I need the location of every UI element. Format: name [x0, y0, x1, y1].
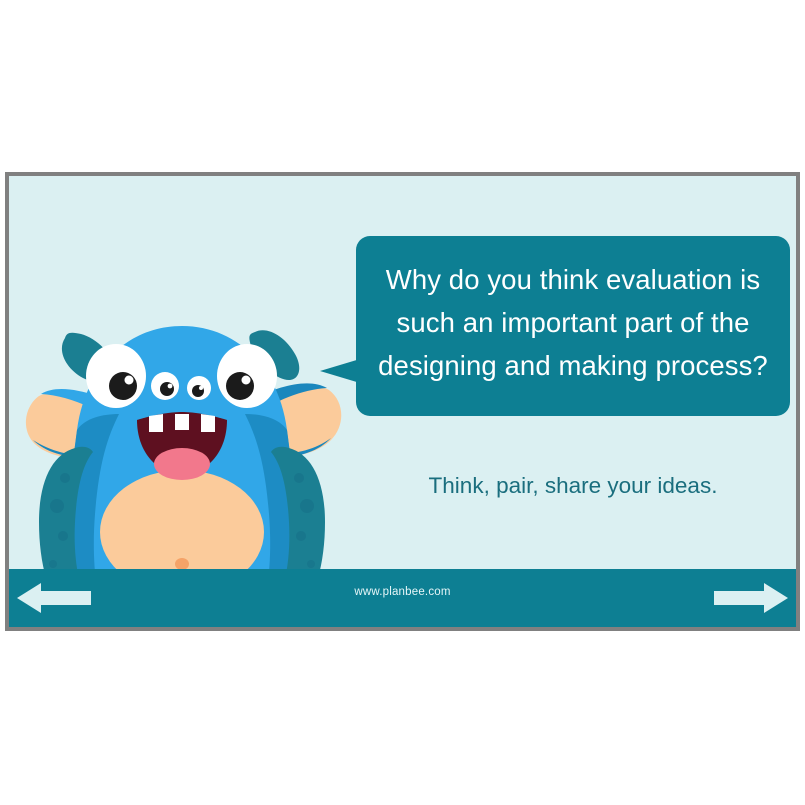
footer-website-url: www.planbee.com [9, 586, 796, 598]
next-slide-button[interactable] [714, 581, 788, 615]
monster-eye-small-left [151, 372, 179, 400]
speech-bubble-text: Why do you think evaluation is such an i… [372, 258, 774, 387]
monster-tongue [154, 448, 210, 480]
monster-eye-small-right [187, 376, 211, 400]
monster-eye-right-large [217, 344, 277, 408]
monster-eye-left-large [86, 344, 146, 408]
slide-page: Why do you think evaluation is such an i… [0, 0, 805, 805]
speech-bubble: Why do you think evaluation is such an i… [356, 236, 790, 416]
speech-bubble-tail [320, 359, 360, 383]
slide-frame: Why do you think evaluation is such an i… [5, 172, 800, 631]
think-pair-share-prompt: Think, pair, share your ideas. [356, 473, 790, 499]
arrow-right-icon [714, 581, 788, 615]
slide-canvas: Why do you think evaluation is such an i… [9, 176, 796, 627]
slide-footer-bar: www.planbee.com [9, 569, 796, 627]
